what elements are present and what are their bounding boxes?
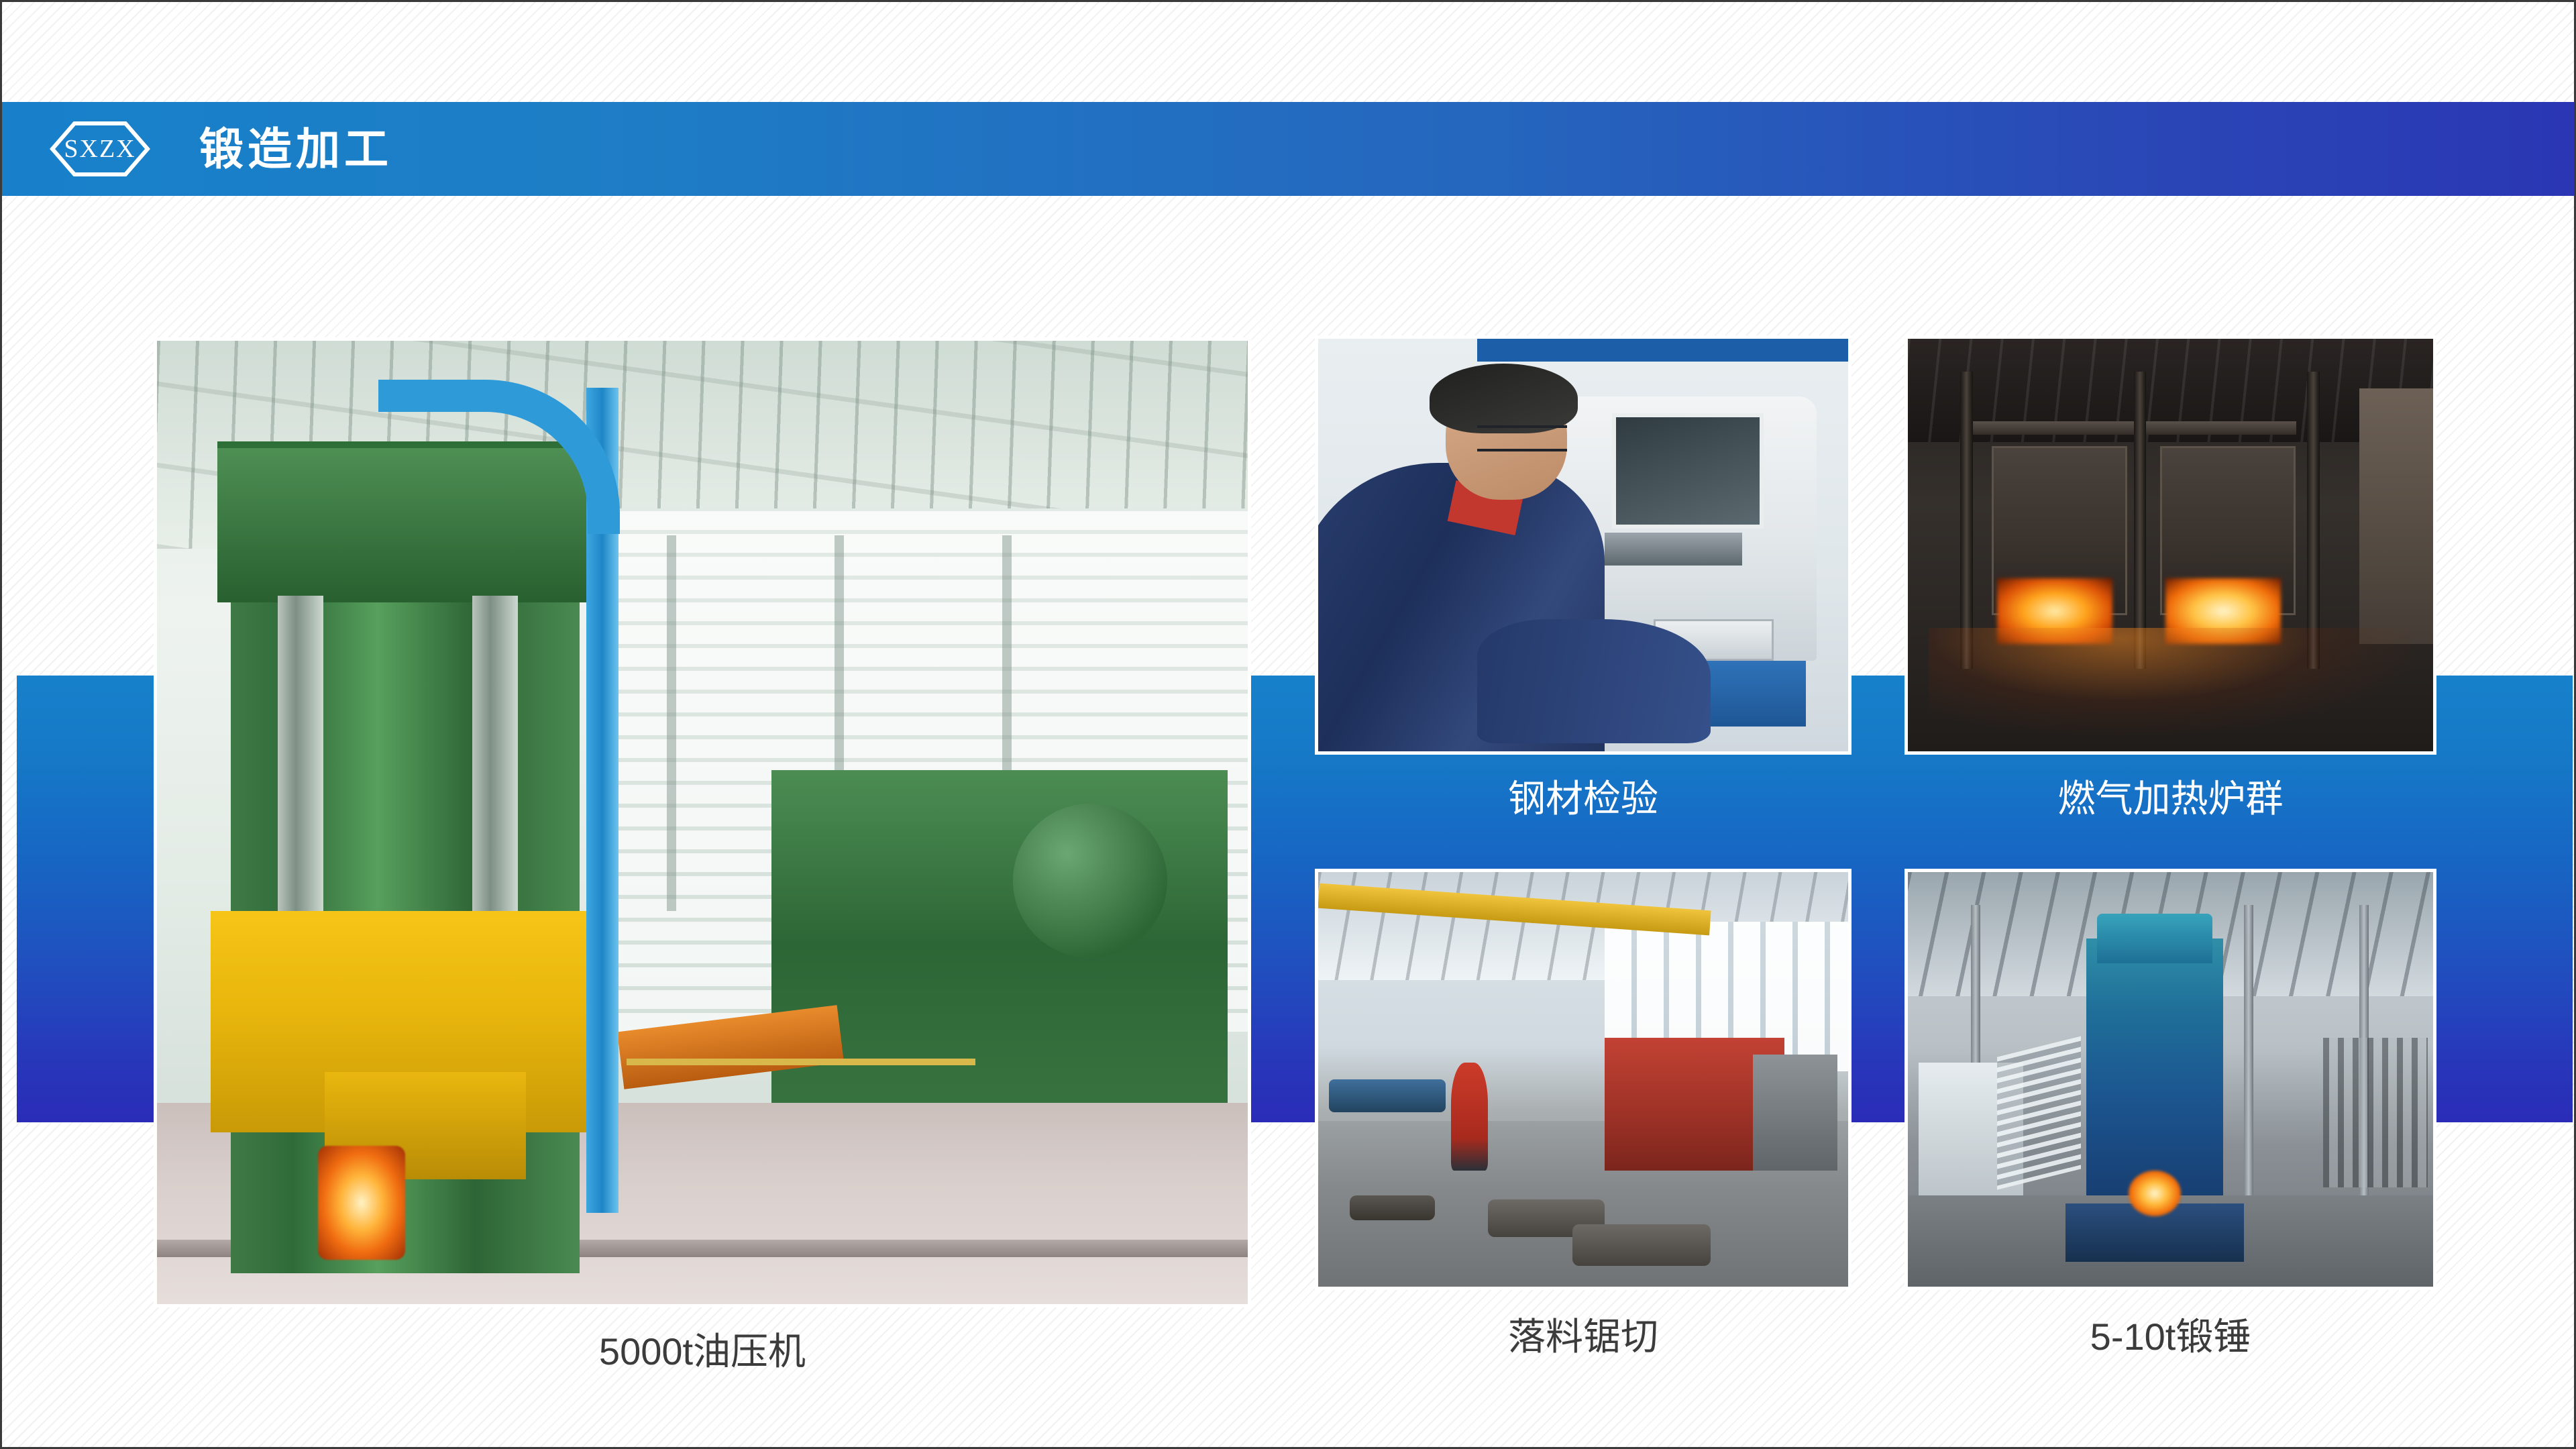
caption-hydraulic-press: 5000t油压机 xyxy=(154,1333,1251,1371)
photo-gas-furnaces[interactable] xyxy=(1904,335,2436,755)
caption-steel-inspection: 钢材检验 xyxy=(1315,780,1851,818)
page-title: 锻造加工 xyxy=(199,127,392,171)
photo-steel-inspection-scene xyxy=(1318,339,1848,751)
company-logo: SXZX xyxy=(49,120,151,178)
photo-forging-hammer-scene xyxy=(1908,872,2433,1287)
logo-text: SXZX xyxy=(49,120,151,178)
photo-hydraulic-press-scene xyxy=(157,341,1248,1304)
caption-forging-hammer: 5-10t锻锤 xyxy=(1904,1318,2436,1356)
photo-billet-sawing-scene xyxy=(1318,872,1848,1287)
photo-hydraulic-press[interactable] xyxy=(154,337,1251,1307)
photo-billet-sawing[interactable] xyxy=(1315,869,1851,1290)
caption-billet-sawing: 落料锯切 xyxy=(1315,1318,1851,1356)
photo-gas-furnaces-scene xyxy=(1908,339,2433,751)
slide-canvas: SXZX 锻造加工 5 xyxy=(0,0,2576,1449)
header-bar: SXZX 锻造加工 xyxy=(2,102,2576,196)
photo-steel-inspection[interactable] xyxy=(1315,335,1851,755)
photo-forging-hammer[interactable] xyxy=(1904,869,2436,1290)
caption-gas-furnaces: 燃气加热炉群 xyxy=(1904,780,2436,818)
